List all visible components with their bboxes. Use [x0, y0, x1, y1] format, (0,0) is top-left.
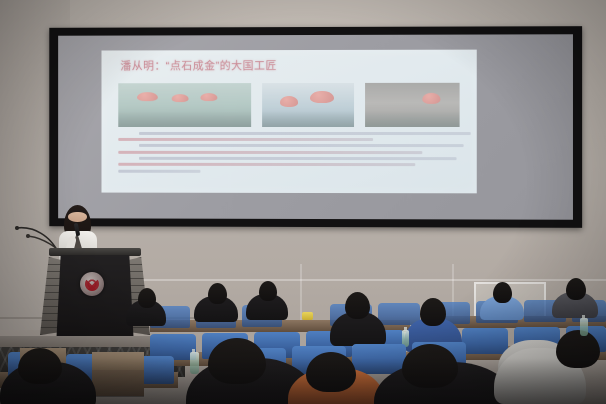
- yellow-bag: [302, 312, 313, 320]
- presentation-slide: 潘从明：“点石成金”的大国工匠: [102, 49, 477, 193]
- slide-paragraph-3: 细心的潘从明梳理出了这个细微的变化，并以此剔除贵金属提取的杂质次数，研发出了稳定…: [118, 176, 119, 177]
- projection-screen: 潘从明：“点石成金”的大国工匠: [49, 26, 582, 228]
- slide-photo-1: [118, 83, 250, 127]
- slide-photo-2: [262, 83, 354, 128]
- audience-head: [493, 282, 512, 303]
- slide-title: 潘从明：“点石成金”的大国工匠: [120, 57, 277, 73]
- wall-seam-line: [140, 279, 606, 281]
- audience-head: [345, 292, 370, 319]
- slide-photo-3: [365, 83, 460, 128]
- slide-paragraph-2: 潘从明发现，从浓缩先成酸体，从浓体先成出金属，每一种贵金属提取需要经过20多道工…: [118, 176, 119, 177]
- audience-head-foreground: [208, 338, 266, 384]
- lectern-top: [49, 248, 141, 256]
- audience-head: [420, 298, 446, 326]
- lecture-hall-photo: 潘从明：“点石成金”的大国工匠: [0, 0, 606, 404]
- water-bottle: [580, 318, 588, 336]
- audience-head-foreground: [402, 344, 458, 388]
- screen-surface: 潘从明：“点石成金”的大国工匠: [58, 34, 573, 219]
- audience-head: [138, 288, 156, 308]
- audience-head: [566, 278, 586, 300]
- slide-paragraph-1: 为了改进贵金属富集提取工艺，潘从明啃下了1200多本专业书籍，记下了30多万字的…: [118, 176, 119, 177]
- water-bottle: [190, 352, 199, 374]
- seat: [462, 328, 508, 354]
- lectern-front: [56, 255, 134, 347]
- audience-head: [208, 283, 227, 304]
- slide-photo-strip: [118, 83, 459, 128]
- audience-head-foreground: [556, 330, 600, 368]
- slide-body-text: 为了改进贵金属富集提取工艺，潘从明啃下了1200多本专业书籍，记下了30多万字的…: [118, 131, 463, 176]
- audience-head-foreground: [18, 348, 62, 384]
- desk: [92, 352, 144, 396]
- audience-head: [259, 281, 277, 301]
- university-crest-icon: [80, 272, 104, 296]
- audience-head-foreground: [306, 352, 356, 392]
